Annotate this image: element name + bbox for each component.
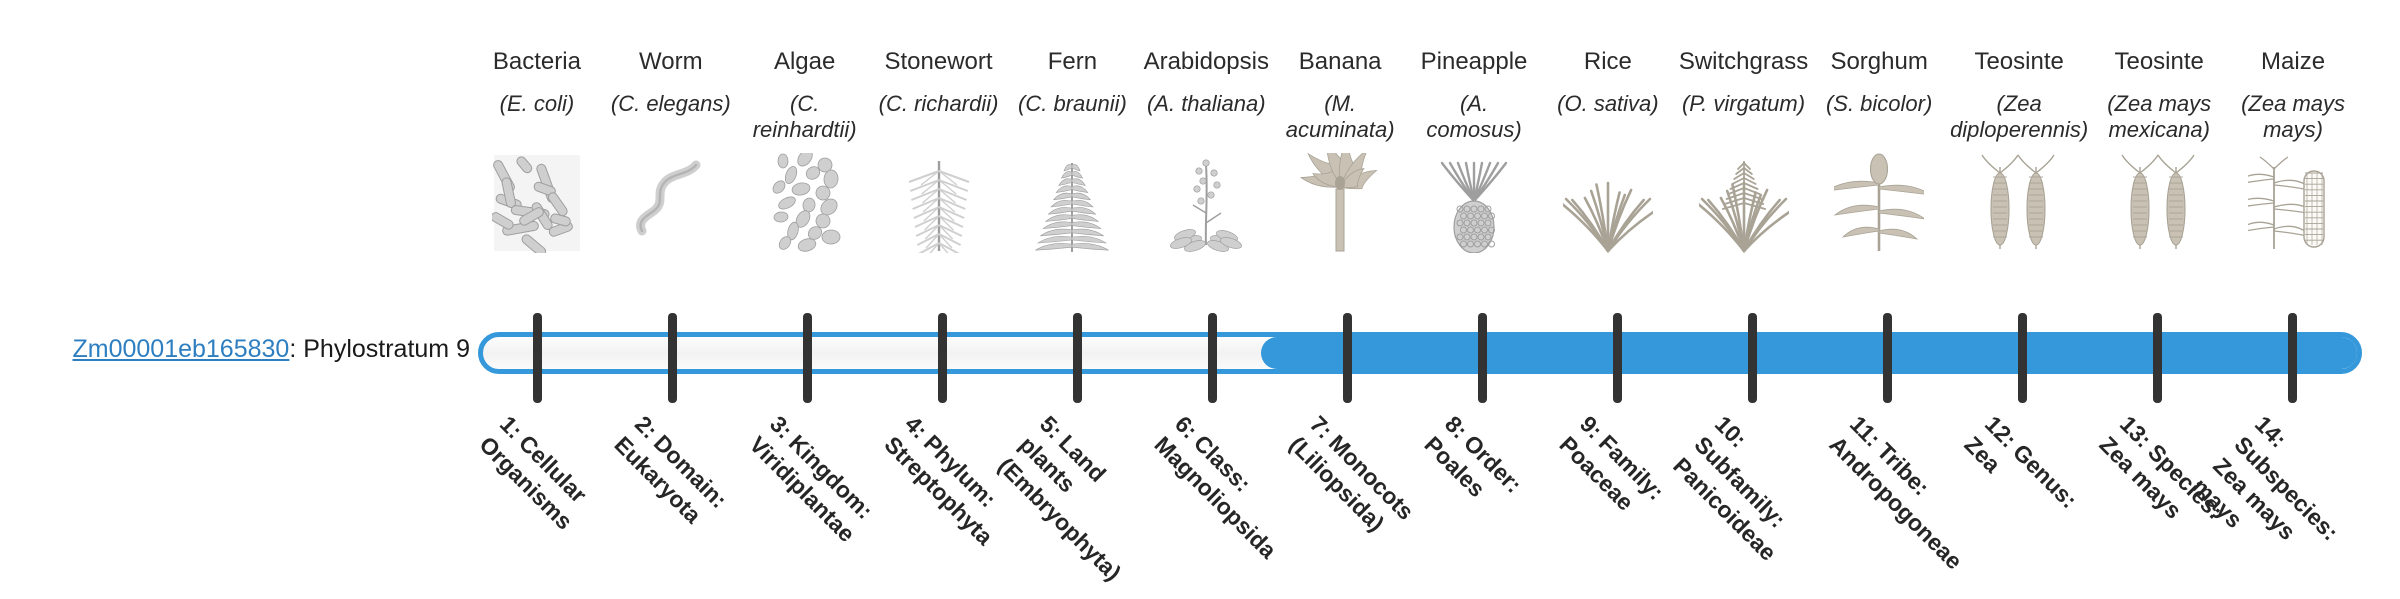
species-scientific-name: (Zea mays mays) — [2230, 91, 2356, 149]
maize-ear-icon — [2230, 153, 2356, 253]
species-column: Rice(O. sativa) — [1541, 48, 1675, 308]
gene-label-separator: : — [289, 335, 303, 363]
stratum-cell: 4: Phylum: Streptophyta — [875, 404, 1010, 580]
species-scientific-name: (C. braunii) — [1018, 91, 1127, 149]
species-scientific-name: (Zea mays mexicana) — [2096, 91, 2222, 149]
stratum-cell: 3: Kingdom: Viridiplantae — [740, 404, 875, 580]
species-column: Bacteria(E. coli) — [470, 48, 604, 308]
species-header-row: Bacteria(E. coli) — [470, 48, 2360, 308]
stratum-cell: 2: Domain: Eukaryota — [605, 404, 740, 580]
species-common-name: Stonewort — [885, 48, 993, 78]
stratum-label-row: 1: Cellular Organisms2: Domain: Eukaryot… — [470, 404, 2360, 580]
species-scientific-name: (C. elegans) — [611, 91, 731, 149]
species-column: Maize(Zea mays mays) — [2226, 48, 2360, 308]
species-column: Sorghum(S. bicolor) — [1812, 48, 1946, 308]
stratum-cell: 12: Genus: Zea — [1955, 404, 2090, 580]
stratum-cell: 9: Family: Poaceae — [1550, 404, 1685, 580]
species-column: Pineapple(A. comosus) — [1407, 48, 1541, 308]
species-common-name: Banana — [1299, 48, 1382, 78]
rice-plant-icon — [1545, 153, 1671, 253]
species-common-name: Bacteria — [493, 48, 581, 78]
sorghum-icon — [1816, 153, 1942, 253]
species-common-name: Switchgrass — [1679, 48, 1808, 78]
gene-phylostratum-label: Zm00001eb165830: Phylostratum 9 — [0, 336, 470, 364]
stratum-label: 6: Class: Magnoliopsida — [1147, 410, 1295, 558]
species-common-name: Sorghum — [1830, 48, 1927, 78]
stratum-cell: 10: Subfamily: Panicoideae — [1685, 404, 1820, 580]
stratum-label: 7: Monocots (Liliopsida) — [1282, 410, 1430, 558]
pineapple-icon — [1411, 153, 1537, 253]
stratum-label: 10: Subfamily: Panicoideae — [1666, 410, 1835, 579]
bacteria-rods-icon — [474, 153, 600, 253]
stratum-label: 2: Domain: Eukaryota — [607, 410, 755, 558]
species-scientific-name: (Zea diploperennis) — [1950, 91, 2088, 149]
species-column: Stonewort(C. richardii) — [872, 48, 1006, 308]
stratum-cell: 14: Subspecies: Zea mays mays — [2225, 404, 2360, 580]
species-scientific-name: (C. richardii) — [879, 91, 999, 149]
arabidopsis-icon — [1143, 153, 1269, 253]
stratum-label: 11: Tribe: Andropogoneae — [1822, 410, 1970, 558]
progress-fill — [1261, 337, 2362, 369]
stratum-cell: 6: Class: Magnoliopsida — [1145, 404, 1280, 580]
phylostratum-value: Phylostratum 9 — [303, 335, 470, 363]
species-common-name: Arabidopsis — [1144, 48, 1269, 78]
species-column: Fern(C. braunii) — [1005, 48, 1139, 308]
species-common-name: Teosinte — [2114, 48, 2203, 78]
species-common-name: Fern — [1048, 48, 1097, 78]
stratum-label: 12: Genus: Zea — [1957, 410, 2105, 558]
species-common-name: Worm — [639, 48, 703, 78]
phylostratum-figure: Zm00001eb165830: Phylostratum 9 Bacteria… — [0, 0, 2400, 580]
species-scientific-name: (P. virgatum) — [1682, 91, 1805, 149]
phylostratum-progress-bar[interactable] — [478, 332, 2362, 374]
species-common-name: Pineapple — [1421, 48, 1528, 78]
species-scientific-name: (A. comosus) — [1411, 91, 1537, 149]
stratum-cell: 11: Tribe: Andropogoneae — [1820, 404, 1955, 580]
stratum-label: 5: Land plants (Embryophyta) — [991, 410, 1160, 579]
species-scientific-name: (S. bicolor) — [1826, 91, 1932, 149]
species-column: Algae(C. reinhardtii) — [738, 48, 872, 308]
stratum-cell: 5: Land plants (Embryophyta) — [1010, 404, 1145, 580]
species-scientific-name: (C. reinhardtii) — [742, 91, 868, 149]
stratum-label: 3: Kingdom: Viridiplantae — [742, 410, 890, 558]
species-common-name: Rice — [1584, 48, 1632, 78]
nematode-worm-icon — [608, 153, 734, 253]
gene-id-link[interactable]: Zm00001eb165830 — [72, 335, 289, 363]
teosinte-mexicana-icon — [2096, 153, 2222, 253]
species-scientific-name: (M. acuminata) — [1277, 91, 1403, 149]
switchgrass-icon — [1679, 153, 1808, 253]
fern-frond-icon — [1009, 153, 1135, 253]
species-common-name: Maize — [2261, 48, 2325, 78]
stratum-label: 8: Order: Poales — [1417, 410, 1565, 558]
species-scientific-name: (O. sativa) — [1557, 91, 1658, 149]
species-column: Teosinte(Zea mays mexicana) — [2092, 48, 2226, 308]
stratum-cell: 7: Monocots (Liliopsida) — [1280, 404, 1415, 580]
progress-track — [478, 332, 2362, 374]
stonewort-icon — [876, 153, 1002, 253]
species-column: Worm(C. elegans) — [604, 48, 738, 308]
species-common-name: Algae — [774, 48, 835, 78]
teosinte-diploperennis-icon — [1950, 153, 2088, 253]
species-column: Arabidopsis(A. thaliana) — [1139, 48, 1273, 308]
algae-cells-icon — [742, 153, 868, 253]
species-scientific-name: (A. thaliana) — [1147, 91, 1266, 149]
stratum-label: 1: Cellular Organisms — [472, 410, 620, 558]
species-common-name: Teosinte — [1974, 48, 2063, 78]
stratum-cell: 8: Order: Poales — [1415, 404, 1550, 580]
species-scientific-name: (E. coli) — [500, 91, 575, 149]
species-column: Teosinte(Zea diploperennis) — [1946, 48, 2092, 308]
stratum-cell: 1: Cellular Organisms — [470, 404, 605, 580]
banana-plant-icon — [1277, 153, 1403, 253]
species-column: Switchgrass(P. virgatum) — [1675, 48, 1812, 308]
species-column: Banana(M. acuminata) — [1273, 48, 1407, 308]
